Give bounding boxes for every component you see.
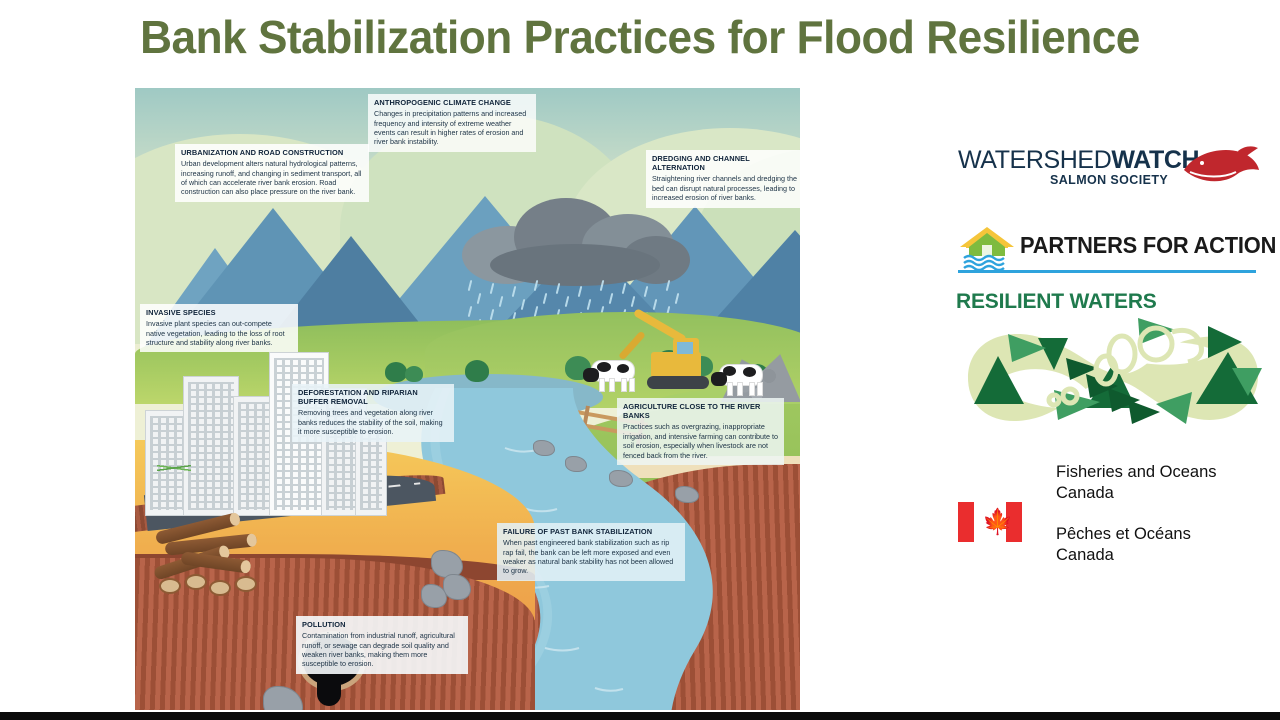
boulder-icon — [565, 456, 587, 472]
cut-logs-icon — [151, 516, 281, 586]
callout-body: Practices such as overgrazing, inappropr… — [623, 422, 778, 460]
callout-heading: POLLUTION — [302, 620, 462, 629]
canada-flag-icon: 🍁 — [958, 502, 1022, 542]
maple-leaf-icon: 🍁 — [982, 507, 1000, 537]
callout-heading: INVASIVE SPECIES — [146, 308, 292, 317]
logo-watershed-watch: WATERSHEDWATCH SALMON SOCIETY — [958, 140, 1258, 206]
grass-tuft-icon — [157, 450, 191, 486]
callout-body: Straightening river channels and dredgin… — [652, 174, 798, 202]
boulder-icon — [533, 440, 555, 456]
callout-invasive-species: INVASIVE SPECIES Invasive plant species … — [140, 304, 298, 352]
pollution-spill — [317, 672, 341, 706]
tree-icon — [385, 362, 407, 382]
callout-body: Changes in precipitation patterns and in… — [374, 109, 530, 147]
callout-dredging: DREDGING AND CHANNEL ALTERNATION Straigh… — [646, 150, 800, 208]
callout-heading: FAILURE OF PAST BANK STABILIZATION — [503, 527, 679, 536]
logo-fisheries-oceans-canada: 🍁 Fisheries and Oceans Canada Pêches et … — [958, 462, 1268, 582]
watershed-watch-wordmark: WATERSHEDWATCH — [958, 146, 1199, 175]
partners-for-action-rule — [958, 270, 1256, 273]
callout-body: Contamination from industrial runoff, ag… — [302, 631, 462, 669]
infographic-illustration: URBANIZATION AND ROAD CONSTRUCTION Urban… — [135, 88, 800, 710]
callout-deforestation: DEFORESTATION AND RIPARIAN BUFFER REMOVA… — [292, 384, 454, 442]
callout-heading: DEFORESTATION AND RIPARIAN BUFFER REMOVA… — [298, 388, 448, 406]
callout-body: Invasive plant species can out-compete n… — [146, 319, 292, 347]
partners-for-action-wordmark: PARTNERS FOR ACTION — [1020, 232, 1276, 259]
callout-body: When past engineered bank stabilization … — [503, 538, 679, 576]
house-water-icon — [958, 226, 1016, 270]
resilient-waters-infinity-art — [950, 308, 1266, 440]
callout-heading: URBANIZATION AND ROAD CONSTRUCTION — [181, 148, 363, 157]
dfo-french-line2: Canada — [1056, 545, 1191, 566]
callout-body: Removing trees and vegetation along rive… — [298, 408, 448, 436]
boulder-icon — [609, 470, 633, 487]
dfo-french-line1: Pêches et Océans — [1056, 524, 1191, 545]
salmon-icon — [1180, 144, 1260, 186]
logo-resilient-waters: RESILIENT WATERS — [950, 290, 1266, 440]
resilient-waters-wordmark: RESILIENT WATERS — [956, 290, 1157, 314]
dfo-english-line2: Canada — [1056, 483, 1217, 504]
boulder-icon — [675, 486, 699, 503]
bottom-letterbox-bar — [0, 712, 1280, 720]
logo-column: WATERSHEDWATCH SALMON SOCIETY — [940, 130, 1270, 610]
dfo-english-line1: Fisheries and Oceans — [1056, 462, 1217, 483]
tree-icon — [405, 366, 423, 382]
callout-urbanization: URBANIZATION AND ROAD CONSTRUCTION Urban… — [175, 144, 369, 202]
callout-agriculture: AGRICULTURE CLOSE TO THE RIVER BANKS Pra… — [617, 398, 784, 465]
callout-heading: DREDGING AND CHANNEL ALTERNATION — [652, 154, 798, 172]
callout-pollution: POLLUTION Contamination from industrial … — [296, 616, 468, 674]
page-title: Bank Stabilization Practices for Flood R… — [26, 10, 1255, 64]
callout-body: Urban development alters natural hydrolo… — [181, 159, 363, 197]
callout-failure-past-stabilization: FAILURE OF PAST BANK STABILIZATION When … — [497, 523, 685, 581]
logo-partners-for-action: PARTNERS FOR ACTION — [958, 222, 1258, 278]
callout-heading: AGRICULTURE CLOSE TO THE RIVER BANKS — [623, 402, 778, 420]
dfo-english-name: Fisheries and Oceans Canada — [1056, 462, 1217, 504]
callout-climate-change: ANTHROPOGENIC CLIMATE CHANGE Changes in … — [368, 94, 536, 152]
slide-root: Bank Stabilization Practices for Flood R… — [0, 0, 1280, 720]
watershed-watch-tagline: SALMON SOCIETY — [1050, 173, 1168, 187]
watershed-word: WATERSHED — [958, 146, 1111, 174]
dfo-french-name: Pêches et Océans Canada — [1056, 524, 1191, 566]
callout-heading: ANTHROPOGENIC CLIMATE CHANGE — [374, 98, 530, 107]
tree-icon — [465, 360, 489, 382]
cow-icon — [587, 356, 639, 390]
